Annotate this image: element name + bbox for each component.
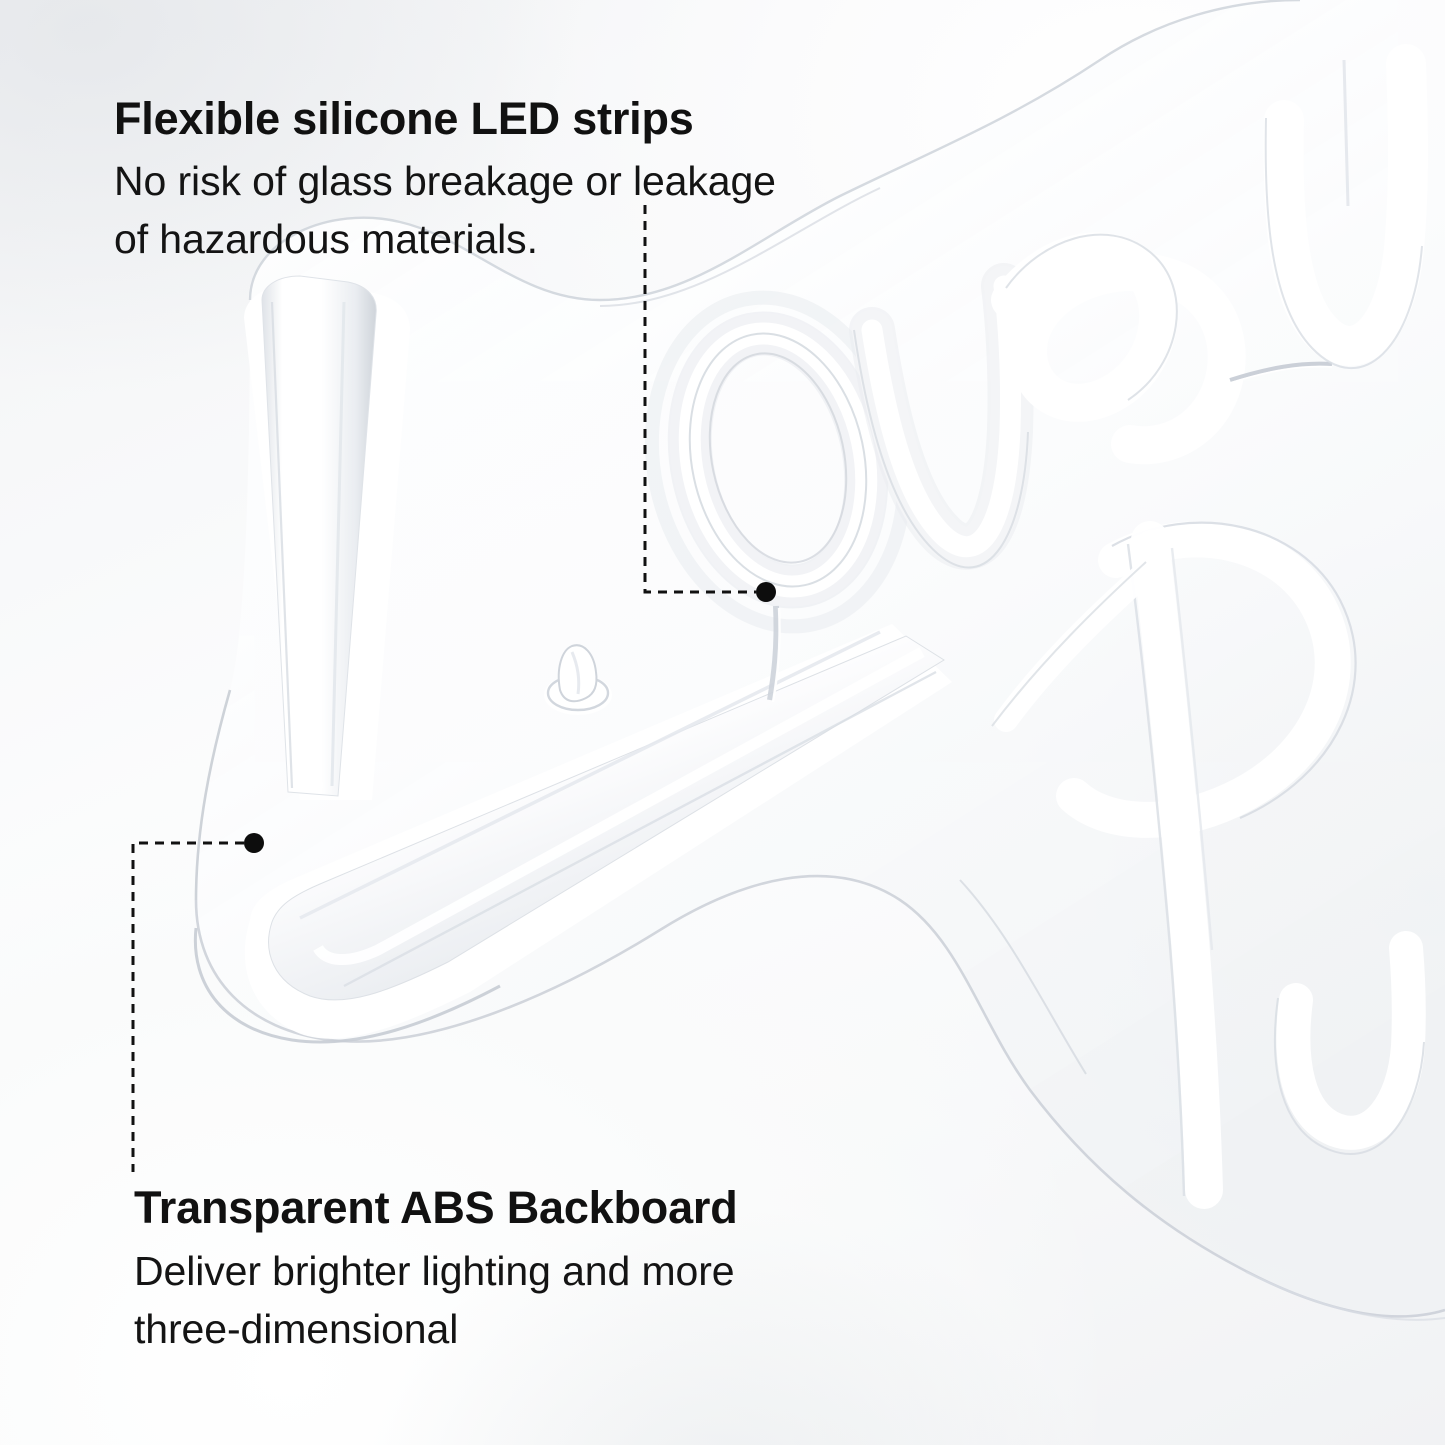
- callout-flexible-silicone-led-strips: Flexible silicone LED strips No risk of …: [114, 92, 776, 268]
- callout-transparent-abs-backboard: Transparent ABS Backboard Deliver bright…: [134, 1180, 738, 1358]
- callout-top-body-line-2: of hazardous materials.: [114, 210, 776, 268]
- callout-bottom-heading: Transparent ABS Backboard: [134, 1180, 738, 1236]
- callout-bottom-body-line-1: Deliver brighter lighting and more: [134, 1242, 738, 1300]
- infographic-canvas: Flexible silicone LED strips No risk of …: [0, 0, 1445, 1445]
- callout-top-heading: Flexible silicone LED strips: [114, 92, 776, 146]
- callout-bottom-body-line-2: three-dimensional: [134, 1300, 738, 1358]
- callout-top-body-line-1: No risk of glass breakage or leakage: [114, 152, 776, 210]
